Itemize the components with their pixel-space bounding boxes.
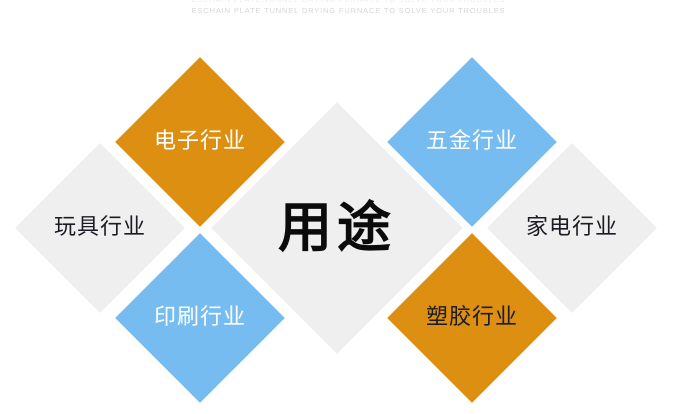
usage-diagram-stage: ESCHAIN PLATE TUNNEL DRYING FURNACE TO S… <box>0 0 697 414</box>
diamond-label-hardware: 五金行业 <box>426 131 518 153</box>
diamond-field: 电子行业 五金行业 玩具行业 家电行业 印刷行业 塑胶行业 用途 <box>0 0 697 414</box>
diamond-label-printing: 印刷行业 <box>154 307 246 329</box>
diamond-label-usage: 用途 <box>278 201 396 255</box>
diamond-label-toys: 玩具行业 <box>54 217 146 239</box>
diamond-label-electronics: 电子行业 <box>154 131 246 153</box>
diamond-label-plastics: 塑胶行业 <box>426 307 518 329</box>
diamond-label-appliances: 家电行业 <box>526 217 618 239</box>
